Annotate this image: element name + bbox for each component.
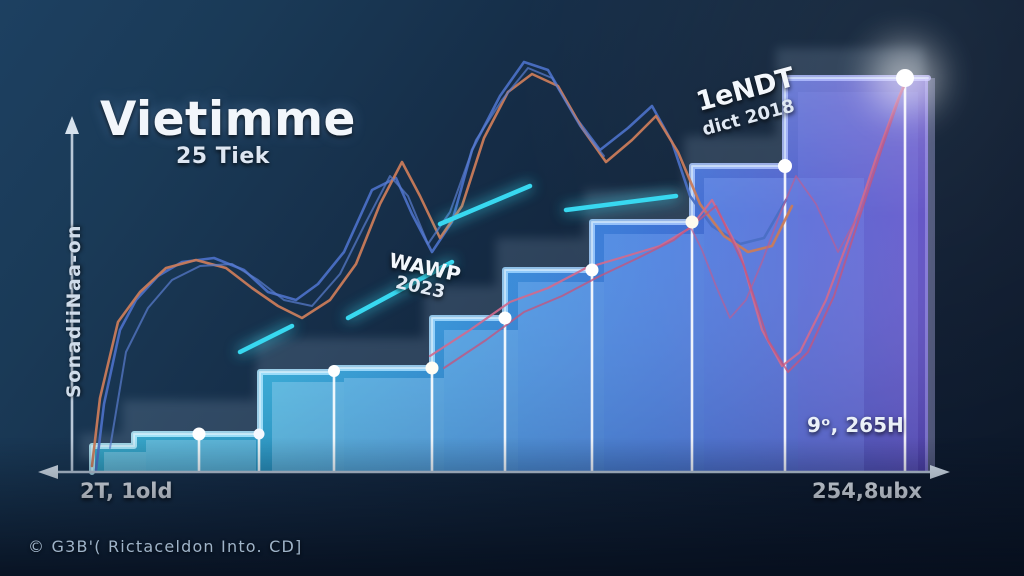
arrow-left-icon [38, 465, 58, 479]
y-axis-label: SonadiiNaa-on [63, 201, 85, 421]
data-point-marker [426, 362, 439, 375]
figure-caption: © G3B'( Rictaceldon Into. CD] [28, 537, 302, 556]
chart-canvas: Vietimme 25 Tiek SonadiiNaa-on 2T, 1old … [0, 0, 1024, 576]
page-subtitle: 25 Tiek [176, 144, 270, 169]
data-point-marker [193, 428, 206, 441]
data-point-marker [328, 365, 340, 377]
data-point-marker [499, 312, 512, 325]
x-axis-tick-right: 254,8ubx [812, 479, 922, 503]
page-title: Vietimme [100, 92, 356, 147]
arrow-right-icon [930, 465, 950, 479]
data-point-marker-apex [896, 69, 914, 87]
annotation-inset-value: 9ᵒ, 265H [807, 413, 904, 437]
data-point-marker [586, 264, 599, 277]
data-point-marker [686, 216, 699, 229]
right-bevel [925, 78, 935, 472]
x-axis-tick-left: 2T, 1old [80, 479, 173, 503]
arrow-up-icon [65, 116, 79, 134]
data-point-marker [778, 159, 792, 173]
data-point-marker [254, 429, 265, 440]
